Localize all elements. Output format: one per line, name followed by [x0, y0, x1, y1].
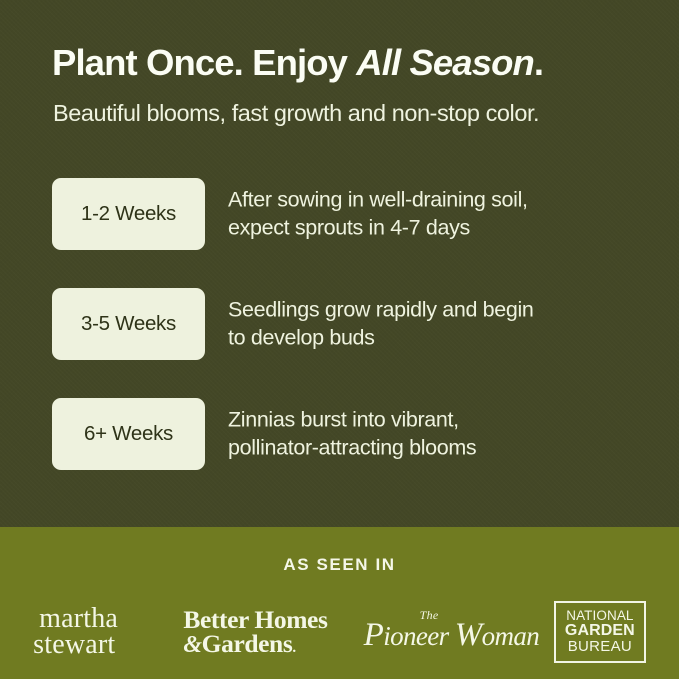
pioneer-woman-main: Pioneer Woman — [364, 619, 540, 652]
pioneer-woman-ioneer: ioneer — [383, 621, 455, 651]
martha-stewart-logo: martha stewart — [33, 606, 153, 658]
timeline-badge-2: 3-5 Weeks — [52, 288, 205, 360]
bhg-ampersand: & — [183, 632, 201, 658]
timeline-description-line: pollinator-attracting blooms — [228, 434, 648, 462]
timeline-description-2: Seedlings grow rapidly and begin to deve… — [228, 296, 648, 353]
martha-stewart-logo-line-2: stewart — [33, 632, 153, 658]
bhg-logo-line-2: &Gardens. — [183, 632, 333, 657]
timeline-description-line: Zinnias burst into vibrant, — [228, 406, 648, 434]
bhg-gardens-word: Gardens — [202, 629, 293, 658]
timeline-description-line: Seedlings grow rapidly and begin — [228, 296, 648, 324]
better-homes-and-gardens-logo: Better Homes &Gardens. — [183, 608, 333, 657]
headline-emphasis: All Season — [356, 42, 534, 83]
timeline-badge-label: 6+ Weeks — [84, 422, 173, 446]
ngb-logo-line-1: NATIONAL — [562, 609, 638, 623]
page-title: Plant Once. Enjoy All Season. — [52, 44, 652, 82]
ngb-logo-line-2: GARDEN — [562, 623, 638, 639]
pioneer-woman-oman: oman — [482, 621, 540, 651]
headline-part-3: . — [534, 42, 543, 83]
timeline-description-line: to develop buds — [228, 324, 648, 352]
timeline-badge-1: 1-2 Weeks — [52, 178, 205, 250]
timeline-badge-label: 3-5 Weeks — [81, 312, 176, 336]
pioneer-woman-w: W — [455, 617, 482, 653]
ngb-logo-line-3: BUREAU — [562, 639, 638, 654]
top-section: Plant Once. Enjoy All Season. Beautiful … — [0, 0, 679, 527]
timeline-row: 1-2 Weeks After sowing in well-draining … — [0, 178, 679, 250]
infographic-root: Plant Once. Enjoy All Season. Beautiful … — [0, 0, 679, 679]
page-subtitle: Beautiful blooms, fast growth and non-st… — [53, 99, 663, 127]
growth-timeline: 1-2 Weeks After sowing in well-draining … — [0, 178, 679, 508]
pioneer-woman-p: P — [364, 617, 384, 653]
as-seen-in-title: AS SEEN IN — [0, 555, 679, 575]
press-logo-row: martha stewart Better Homes &Gardens. Th… — [0, 601, 679, 663]
national-garden-bureau-logo: NATIONAL GARDEN BUREAU — [554, 601, 646, 663]
as-seen-in-band: AS SEEN IN martha stewart Better Homes &… — [0, 527, 679, 679]
bhg-trademark-dot: . — [292, 640, 295, 656]
timeline-badge-label: 1-2 Weeks — [81, 202, 176, 226]
timeline-description-line: expect sprouts in 4-7 days — [228, 214, 648, 242]
timeline-description-line: After sowing in well-draining soil, — [228, 186, 648, 214]
timeline-row: 6+ Weeks Zinnias burst into vibrant, pol… — [0, 398, 679, 470]
timeline-badge-3: 6+ Weeks — [52, 398, 205, 470]
the-pioneer-woman-logo: The Pioneer Woman — [364, 609, 524, 655]
timeline-row: 3-5 Weeks Seedlings grow rapidly and beg… — [0, 288, 679, 360]
timeline-description-1: After sowing in well-draining soil, expe… — [228, 186, 648, 243]
headline-part-1: Plant Once. Enjoy — [52, 42, 356, 83]
timeline-description-3: Zinnias burst into vibrant, pollinator-a… — [228, 406, 648, 463]
